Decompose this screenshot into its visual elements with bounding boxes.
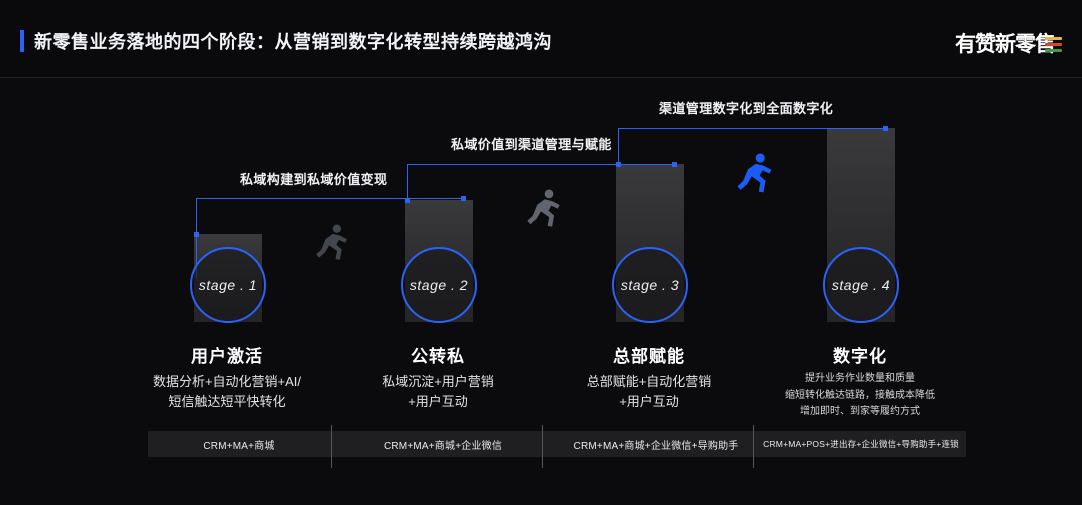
stage-badge-3[interactable]: stage . 3 — [612, 247, 688, 323]
page-title: 新零售业务落地的四个阶段：从营销到数字化转型持续跨越鸿沟 — [34, 28, 552, 54]
transition-label-2: 私域价值到渠道管理与赋能 — [451, 134, 612, 153]
description-line: 数据分析+自动化营销+AI/ — [132, 372, 322, 392]
stage-badge-label: stage . 3 — [621, 277, 679, 293]
stage-heading-3: 总部赋能 — [570, 342, 728, 367]
description-line: 提升业务作业数量和质量 — [765, 371, 955, 388]
brand-bar-red — [1045, 43, 1062, 46]
connector-dot — [405, 198, 410, 203]
stage-description-4: 提升业务作业数量和质量 缩短转化触达链路，接触成本降低 增加即时、到家等履约方式 — [765, 371, 955, 421]
stage-tag-1: CRM+MA+商城 — [148, 431, 330, 457]
stage-badge-label: stage . 4 — [832, 277, 890, 293]
stage-heading-2: 公转私 — [359, 342, 517, 367]
description-line: +用户互动 — [343, 392, 533, 412]
stage-tag-3: CRM+MA+商城+企业微信+导购助手 — [556, 431, 756, 457]
column-divider-1 — [331, 425, 332, 468]
connector-dot — [616, 162, 621, 167]
brand-accent-bars — [1045, 35, 1062, 52]
description-line: 短信触达短平快转化 — [132, 392, 322, 412]
stage-badge-2[interactable]: stage . 2 — [401, 247, 477, 323]
connector-dot — [461, 196, 466, 201]
stage-description-1: 数据分析+自动化营销+AI/ 短信触达短平快转化 — [132, 372, 322, 412]
stage-heading-1: 用户激活 — [148, 342, 306, 367]
runner-icon-3 — [734, 152, 778, 200]
brand-logo: 有赞新零售 — [955, 30, 1062, 56]
column-divider-2 — [542, 425, 543, 468]
description-line: 缩短转化触达链路，接触成本降低 — [765, 388, 955, 405]
stage-badge-1[interactable]: stage . 1 — [190, 247, 266, 323]
connector-dot — [194, 232, 199, 237]
connector-dot — [672, 162, 677, 167]
transition-label-1: 私域构建到私域价值变现 — [240, 169, 387, 188]
stage-heading-4: 数字化 — [781, 342, 939, 367]
description-line: 总部赋能+自动化营销 — [554, 372, 744, 392]
description-line: 增加即时、到家等履约方式 — [765, 404, 955, 421]
stage-badge-4[interactable]: stage . 4 — [823, 247, 899, 323]
description-line: 私域沉淀+用户营销 — [343, 372, 533, 392]
stage-badge-label: stage . 2 — [410, 277, 468, 293]
stage-description-2: 私域沉淀+用户营销 +用户互动 — [343, 372, 533, 412]
slide-canvas: 新零售业务落地的四个阶段：从营销到数字化转型持续跨越鸿沟 有赞新零售 私域构建到… — [0, 0, 1082, 505]
stage-description-3: 总部赋能+自动化营销 +用户互动 — [554, 372, 744, 412]
runner-icon-2 — [524, 188, 566, 234]
stage-badge-label: stage . 1 — [199, 277, 257, 293]
connector-dot — [883, 126, 888, 131]
stage-tag-2: CRM+MA+商城+企业微信 — [330, 431, 556, 457]
title-accent-bar — [20, 30, 24, 52]
stage-tag-4: CRM+MA+POS+进出存+企业微信+导购助手+连锁 — [756, 431, 966, 457]
brand-bar-yellow — [1045, 37, 1062, 40]
column-divider-3 — [753, 425, 754, 468]
runner-icon-1 — [313, 223, 353, 267]
brand-bar-green — [1045, 49, 1062, 52]
brand-name: 有赞新零售 — [955, 28, 1055, 58]
description-line: +用户互动 — [554, 392, 744, 412]
transition-label-3: 渠道管理数字化到全面数字化 — [659, 98, 833, 117]
